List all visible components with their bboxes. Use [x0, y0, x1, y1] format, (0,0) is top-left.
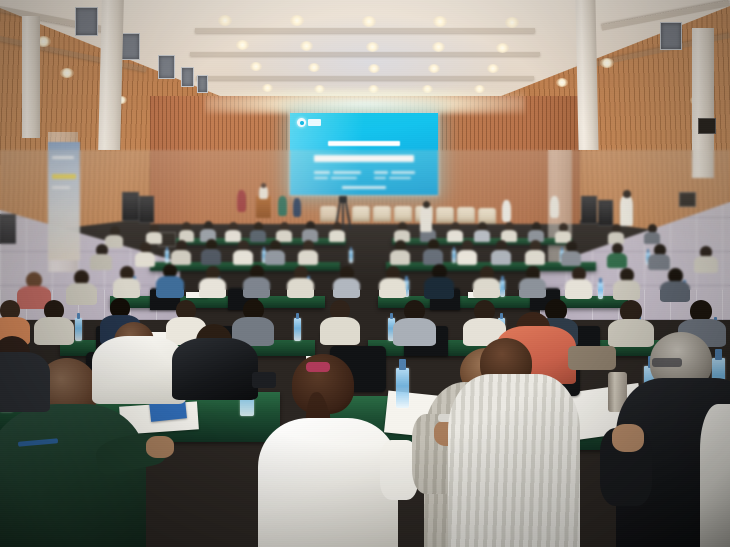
attendee-torso [525, 250, 545, 265]
water-bottle [598, 282, 603, 299]
attendee-torso [298, 250, 318, 265]
downlight [556, 78, 568, 87]
attendee-torso [561, 251, 581, 266]
attendee-torso [648, 254, 670, 270]
pa-speaker [598, 200, 613, 226]
eyeglasses [652, 358, 682, 367]
speaker-head [261, 183, 266, 188]
attendee-torso [34, 317, 74, 345]
person-torso [172, 338, 258, 400]
staff-standing [550, 196, 559, 218]
stage-chair [394, 206, 412, 222]
pillar-far-left [22, 16, 40, 138]
hair-tie [306, 362, 330, 372]
attendee-torso [644, 232, 660, 244]
slide-detail-line [314, 177, 328, 179]
ceiling-band [195, 28, 535, 33]
downlight [433, 16, 447, 27]
attendee-torso [457, 250, 477, 265]
attendee-head [423, 201, 430, 208]
attendee-torso [199, 278, 226, 298]
attendee-torso [519, 278, 546, 298]
attendee-torso [393, 318, 436, 346]
logo-wordmark [308, 119, 321, 126]
downlight [366, 42, 379, 52]
water-bottle [165, 250, 169, 263]
downlight [60, 68, 74, 78]
attendee-torso [491, 250, 511, 265]
attendee-torso [608, 319, 654, 347]
attendee-torso [329, 230, 345, 242]
pa-speaker [581, 196, 597, 224]
attendee-torso [424, 277, 454, 299]
downlight [290, 15, 304, 26]
water-bottle [452, 250, 456, 263]
attendee-torso [320, 317, 360, 345]
clerestory-window [181, 67, 194, 87]
slide-detail-line [374, 177, 386, 179]
staff-standing [502, 200, 511, 222]
slide-detail-line [331, 177, 357, 179]
stage-chair [320, 206, 337, 222]
attendee-torso [660, 281, 690, 302]
pillar-far-right [692, 28, 714, 178]
pa-speaker [122, 192, 139, 221]
person-torso [0, 352, 50, 412]
downlight [236, 40, 249, 50]
slide-detail-line [333, 171, 361, 174]
pa-speaker [0, 214, 16, 244]
tripod-leg [342, 203, 344, 230]
attendee-standing [420, 206, 432, 232]
water-bottle [75, 318, 82, 341]
person-hand [146, 436, 174, 458]
clerestory-window [660, 22, 682, 50]
attendee-torso [423, 249, 443, 265]
slide-detail-line [389, 177, 411, 179]
stage-light-wash [205, 88, 525, 114]
slide-kicker-line [328, 141, 400, 146]
stage-chair [436, 207, 454, 223]
slide-logo-icon [297, 118, 321, 127]
attendee-torso [243, 277, 270, 298]
pa-speaker [139, 196, 154, 223]
downlight [505, 17, 519, 28]
staff-standing [293, 198, 301, 217]
podium [256, 196, 271, 218]
attendee-torso [287, 278, 314, 298]
attendee-torso [565, 279, 592, 299]
wall-vent [698, 118, 716, 134]
person-torso [700, 404, 730, 547]
attendee-head [623, 190, 631, 198]
downlight [600, 58, 614, 68]
ceiling-band [196, 76, 534, 80]
downlight [250, 62, 262, 71]
slide-detail-line [314, 171, 330, 174]
attendee-torso [105, 235, 123, 248]
downlight [218, 15, 232, 26]
attendee-torso [613, 280, 640, 300]
person-torso [448, 374, 580, 547]
attendee-torso [250, 230, 266, 242]
stage-chair [373, 206, 391, 222]
downlight [362, 16, 376, 27]
water-bottle [294, 318, 301, 341]
stage-chair [457, 207, 475, 223]
banner-accent-line [52, 174, 76, 179]
attendee-standing [620, 196, 633, 226]
pillar-left-upper [98, 0, 124, 150]
person-torso [258, 418, 398, 547]
ceiling-band [190, 52, 540, 56]
slide-detail-line [391, 171, 415, 174]
side-projection-banner [48, 142, 80, 260]
person-torso [0, 404, 146, 547]
downlight [496, 43, 509, 53]
water-bottle [500, 280, 505, 297]
attendee-torso [333, 278, 360, 298]
staff-standing [237, 190, 246, 212]
downlight [368, 64, 380, 73]
attendee-torso [90, 254, 112, 270]
water-bottle [396, 368, 409, 408]
attendee-torso [225, 230, 241, 242]
attendee-torso [265, 250, 285, 265]
banner-line [52, 156, 74, 159]
projector-screen [290, 113, 438, 195]
stage-chair [352, 206, 370, 222]
clerestory-window [75, 7, 98, 36]
attendee-torso [135, 252, 155, 267]
logo-mark-icon [297, 118, 306, 127]
attendee-torso [233, 250, 253, 265]
clerestory-window [158, 55, 175, 79]
wall-vent [679, 192, 696, 207]
person-hand [612, 424, 644, 452]
attendee-torso [474, 230, 490, 242]
clerestory-window [197, 75, 208, 93]
attendee-torso [201, 249, 221, 265]
attendee-torso [379, 278, 406, 298]
slide-detail-line [374, 171, 388, 174]
attendee-torso [607, 253, 627, 268]
banner-line [52, 186, 70, 189]
water-bottle [349, 250, 353, 263]
attendee-torso [390, 250, 410, 265]
staff-standing [278, 196, 287, 216]
downlight [432, 42, 445, 52]
attendee-torso [447, 230, 463, 242]
conference-hall-photo [0, 0, 730, 547]
slide-date-line [342, 186, 386, 189]
downlight [487, 64, 499, 73]
bag [568, 346, 616, 370]
attendee-torso [694, 256, 718, 273]
attendee-torso [171, 250, 191, 265]
downlight [308, 63, 320, 72]
attendee-torso [473, 278, 500, 298]
slide-headline-line [314, 155, 414, 162]
pillar-right-upper [575, 0, 598, 150]
mobile-phone [252, 372, 276, 388]
clerestory-window [120, 33, 140, 60]
attendee-torso [156, 276, 184, 298]
downlight [300, 41, 313, 51]
downlight [428, 64, 440, 73]
attendee-torso [66, 283, 97, 305]
attendee-torso [113, 278, 140, 298]
